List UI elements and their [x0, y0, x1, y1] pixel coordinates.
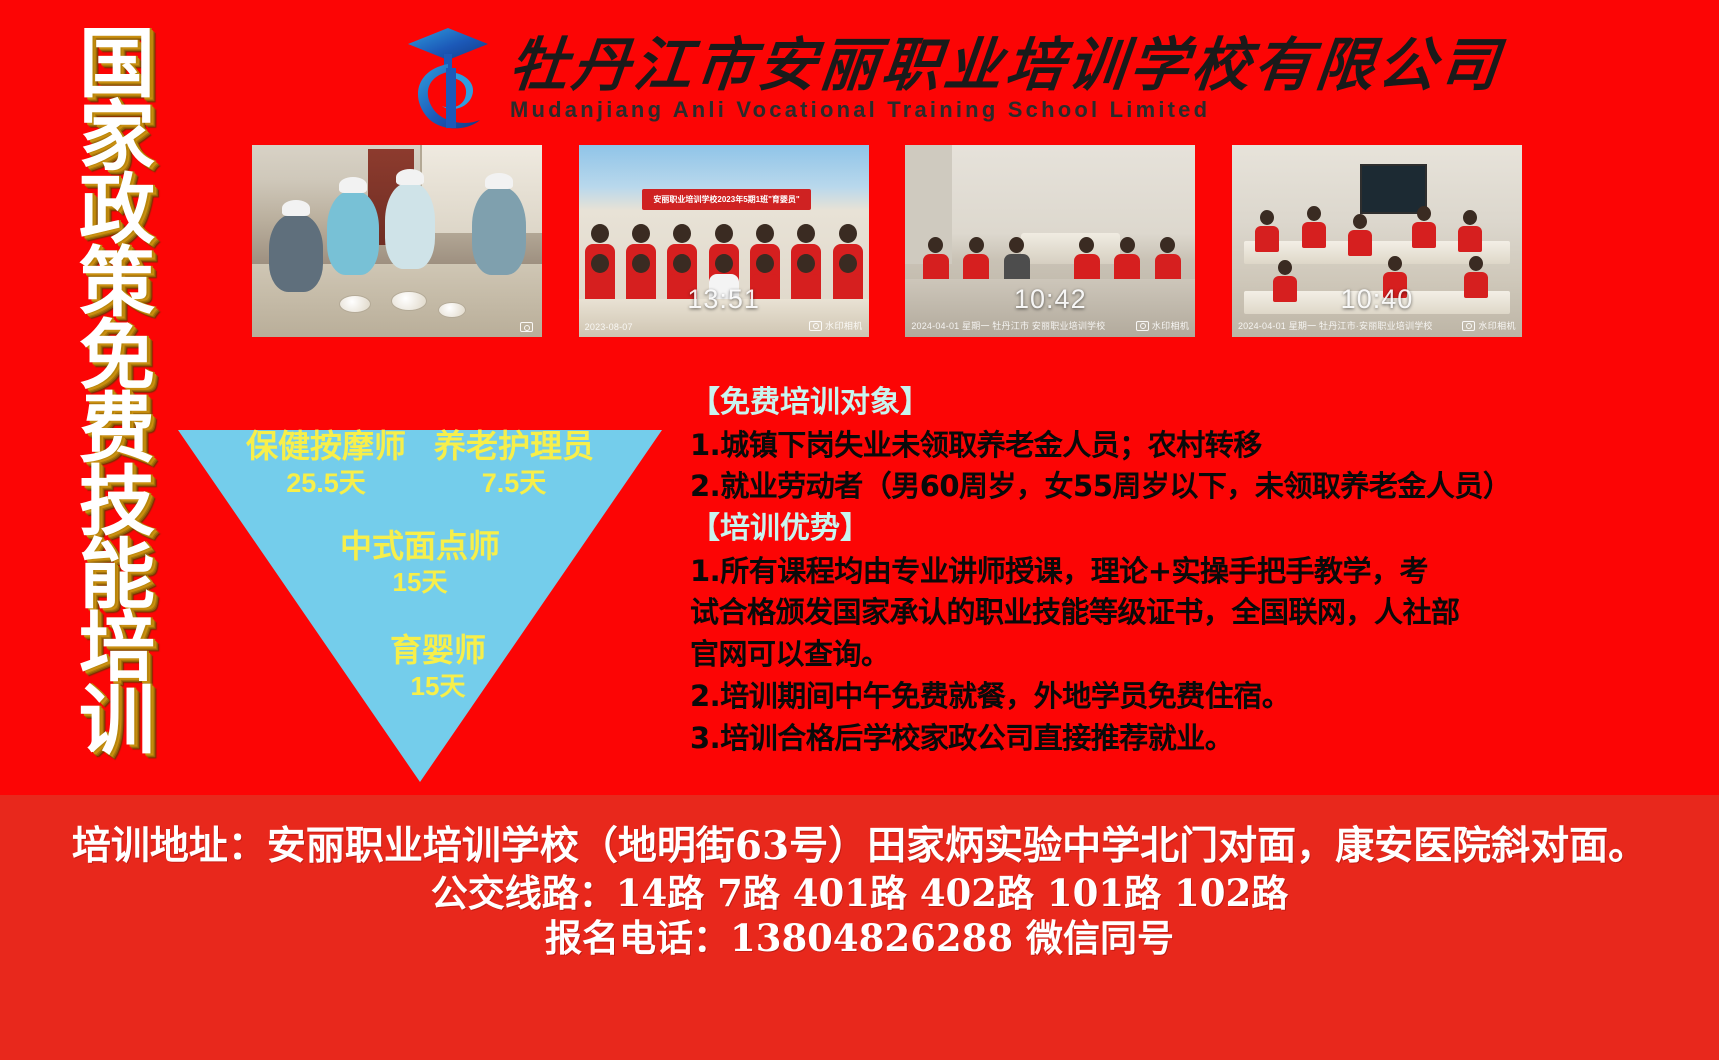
eligibility-line-2: 2.就业劳动者（男60周岁，女55周岁以下，未领取养老金人员）: [690, 466, 1650, 508]
bus-routes: 公交线路：14路 7路 401路 402路 101路 102路: [431, 871, 1289, 916]
vertical-title-char: 策: [79, 247, 155, 320]
vertical-title: 国 家 政 策 免 费 技 能 培 训: [62, 28, 172, 758]
photo-timestamp: 10:42: [1014, 284, 1087, 315]
advantage-line-5: 3.培训合格后学校家政公司直接推荐就业。: [690, 718, 1650, 760]
photo-watermark: [520, 322, 536, 332]
photo-banner-text: 安丽职业培训学校2023年5期1班"育婴员": [642, 189, 810, 210]
advantage-line-4: 2.培训期间中午免费就餐，外地学员免费住宿。: [690, 676, 1650, 718]
advantage-line-2: 试合格颁发国家承认的职业技能等级证书，全国联网，人社部: [690, 592, 1650, 634]
vertical-title-char: 技: [79, 466, 155, 539]
camera-icon: [809, 321, 822, 331]
photo-watermark: 水印相机: [809, 319, 863, 332]
bottom-contact-banner: 培训地址：安丽职业培训学校（地明街63号）田家炳实验中学北门对面，康安医院斜对面…: [0, 795, 1719, 1060]
photo-watermark: 水印相机: [1462, 319, 1516, 332]
photo-date: 2024-04-01 星期一 牡丹江市 安丽职业培训学校: [911, 319, 1105, 332]
camera-icon: [1136, 321, 1149, 331]
photo-date: 2024-04-01 星期一 牡丹江市·安丽职业培训学校: [1238, 319, 1433, 332]
photo-classroom-lecture: 10:40 2024-04-01 星期一 牡丹江市·安丽职业培训学校 水印相机: [1232, 145, 1522, 337]
enrollment-phone: 报名电话：13804826288 微信同号: [545, 916, 1174, 961]
advantage-line-1: 1.所有课程均由专业讲师授课，理论+实操手把手教学，考: [690, 551, 1650, 593]
photo-watermark: 水印相机: [1136, 319, 1190, 332]
eligibility-line-1: 1.城镇下岗失业未领取养老金人员；农村转移: [690, 425, 1650, 467]
header: 牡丹江市安丽职业培训学校有限公司 Mudanjiang Anli Vocatio…: [400, 18, 1300, 140]
graduation-cap-logo: [400, 24, 496, 134]
vertical-title-char: 能: [79, 539, 155, 612]
photo-nursing-practice: 10:42 2024-04-01 星期一 牡丹江市 安丽职业培训学校 水印相机: [905, 145, 1195, 337]
poster-root: 国 家 政 策 免 费 技 能 培 训: [0, 0, 1719, 1060]
vertical-title-char: 政: [79, 174, 155, 247]
info-column: 【免费培训对象】 1.城镇下岗失业未领取养老金人员；农村转移 2.就业劳动者（男…: [690, 382, 1650, 759]
camera-icon: [520, 322, 533, 332]
photo-timestamp: 13:51: [687, 284, 760, 315]
photo-group-graduation: 安丽职业培训学校2023年5期1班"育婴员" 13:51: [579, 145, 869, 337]
vertical-title-char: 培: [79, 612, 155, 685]
course-funnel-shape: [178, 430, 662, 782]
training-address: 培训地址：安丽职业培训学校（地明街63号）田家炳实验中学北门对面，康安医院斜对面…: [72, 823, 1647, 871]
vertical-title-char: 免: [79, 320, 155, 393]
school-name-block: 牡丹江市安丽职业培训学校有限公司 Mudanjiang Anli Vocatio…: [510, 35, 1502, 124]
photo-strip: 安丽职业培训学校2023年5期1班"育婴员" 13:51: [252, 145, 1522, 337]
section-heading-advantages: 【培训优势】: [690, 508, 1650, 551]
school-name-en: Mudanjiang Anli Vocational Training Scho…: [510, 97, 1502, 123]
camera-icon: [1462, 321, 1475, 331]
photo-pastry-class: [252, 145, 542, 337]
school-name-cn: 牡丹江市安丽职业培训学校有限公司: [507, 35, 1505, 96]
vertical-title-char: 训: [79, 685, 155, 758]
photo-date: 2023-08-07: [585, 322, 633, 332]
photo-timestamp: 10:40: [1341, 284, 1414, 315]
vertical-title-char: 国: [79, 28, 155, 101]
advantage-line-3: 官网可以查询。: [690, 634, 1650, 676]
vertical-title-char: 费: [79, 393, 155, 466]
section-heading-eligibility: 【免费培训对象】: [690, 382, 1650, 425]
vertical-title-char: 家: [79, 101, 155, 174]
